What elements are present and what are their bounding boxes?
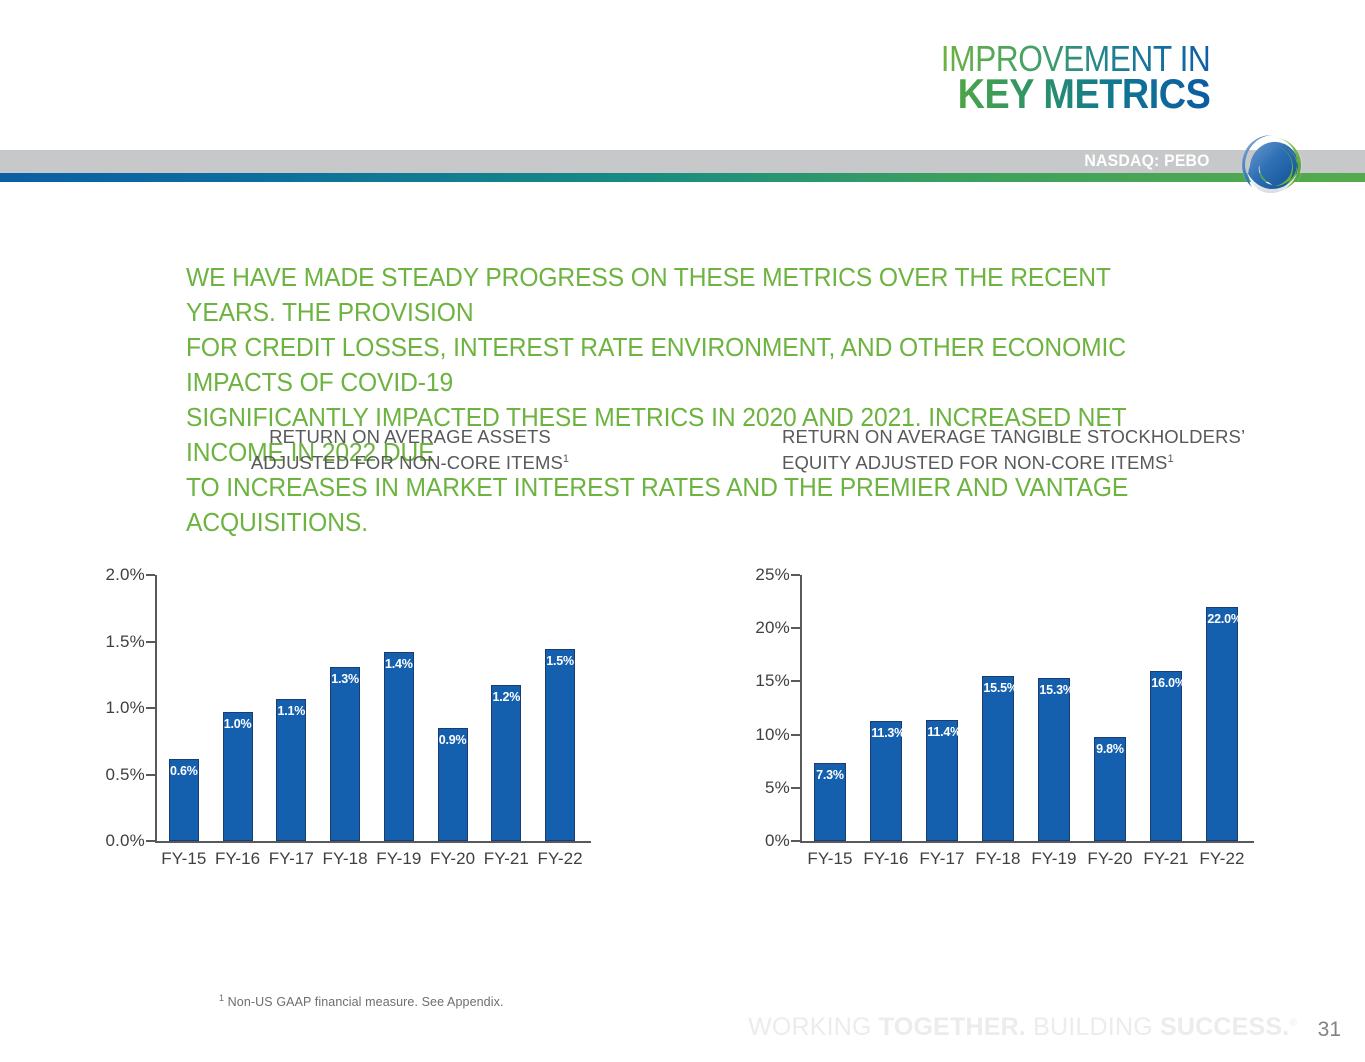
y-tick-label: 1.0% (105, 698, 145, 718)
footer-tagline-part-2: BUILDING (1026, 1013, 1160, 1041)
bar: 7.3% (814, 763, 845, 841)
bar-value-label: 0.6% (170, 764, 198, 778)
x-tick-label: FY-19 (1026, 849, 1082, 869)
x-tick-label: FY-21 (1138, 849, 1194, 869)
y-tick-label: 0.5% (105, 765, 145, 785)
x-tick-label: FY-18 (318, 849, 372, 869)
x-tick-label: FY-18 (970, 849, 1026, 869)
bar-slot: 1.2% (480, 575, 534, 841)
chart-left-title-line-2-text: ADJUSTED FOR NON-CORE ITEMS (251, 452, 563, 473)
bar: 15.5% (982, 676, 1013, 841)
bar-slot: 0.6% (157, 575, 211, 841)
bar-slot: 1.5% (533, 575, 587, 841)
y-tick-mark (791, 680, 800, 682)
bar-slot: 15.5% (970, 575, 1026, 841)
chart-right-title: RETURN ON AVERAGE TANGIBLE STOCKHOLDERS’… (720, 425, 1340, 474)
bar-slot: 11.4% (914, 575, 970, 841)
chart-right-title-footnote-marker: 1 (1167, 453, 1173, 465)
chart-left-y-axis-labels: 2.0%1.5%1.0%0.5%0.0% (60, 565, 145, 831)
page-number: 31 (1318, 1018, 1341, 1042)
bar: 1.4% (384, 652, 414, 841)
x-tick-label: FY-17 (914, 849, 970, 869)
footnote: 1 Non-US GAAP financial measure. See App… (219, 993, 504, 1009)
y-tick-mark (146, 574, 155, 576)
footnote-text: Non-US GAAP financial measure. See Appen… (224, 995, 503, 1009)
bar-slot: 1.1% (265, 575, 319, 841)
bar-slot: 1.4% (372, 575, 426, 841)
bar-value-label: 9.8% (1095, 742, 1124, 756)
y-tick-mark (146, 707, 155, 709)
bar: 15.3% (1038, 678, 1069, 841)
bar: 1.0% (223, 712, 253, 841)
chart-left-x-axis-line (155, 841, 591, 843)
y-tick-mark (146, 641, 155, 643)
page-title: IMPROVEMENT IN KEY METRICS (904, 42, 1210, 114)
chart-return-on-average-assets: RETURN ON AVERAGE ASSETS ADJUSTED FOR NO… (60, 425, 660, 885)
bar-slot: 0.9% (426, 575, 480, 841)
x-tick-label: FY-16 (211, 849, 265, 869)
bar: 11.3% (870, 721, 901, 841)
y-tick-label: 0% (765, 831, 790, 851)
y-tick-label: 25% (755, 565, 790, 585)
bar-slot: 1.3% (318, 575, 372, 841)
y-tick-mark (791, 734, 800, 736)
nasdaq-ticker-label: NASDAQ: PEBO (1085, 151, 1210, 171)
bar-slot: 22.0% (1194, 575, 1250, 841)
bar-slot: 16.0% (1138, 575, 1194, 841)
peoples-bancorp-logo-icon (1238, 132, 1306, 200)
lead-line-2: FOR CREDIT LOSSES, INTEREST RATE ENVIRON… (186, 331, 1170, 401)
y-tick-mark (146, 774, 155, 776)
chart-right-title-line-2-text: EQUITY ADJUSTED FOR NON-CORE ITEMS (782, 452, 1167, 473)
y-tick-mark (791, 787, 800, 789)
bar-value-label: 22.0% (1207, 612, 1236, 626)
chart-left-title-line-1: RETURN ON AVERAGE ASSETS (160, 425, 660, 448)
chart-return-on-average-tangible-stockholders-equity: RETURN ON AVERAGE TANGIBLE STOCKHOLDERS’… (720, 425, 1340, 885)
bar: 0.6% (169, 759, 199, 841)
bar-value-label: 1.2% (492, 690, 520, 704)
bar: 0.9% (438, 728, 468, 841)
bar-value-label: 15.3% (1039, 683, 1068, 697)
y-tick-label: 0.0% (105, 831, 145, 851)
bar-slot: 7.3% (802, 575, 858, 841)
chart-right-y-axis-labels: 25%20%15%10%5%0% (720, 565, 790, 831)
bar-value-label: 1.3% (331, 672, 359, 686)
footer-tagline-bold-2: SUCCESS. (1160, 1013, 1289, 1041)
footer-tagline-part-1: WORKING (748, 1013, 879, 1041)
x-tick-label: FY-21 (480, 849, 534, 869)
chart-right-x-axis-labels: FY-15FY-16FY-17FY-18FY-19FY-20FY-21FY-22 (802, 849, 1250, 869)
footer-tagline: WORKING TOGETHER. BUILDING SUCCESS.® (748, 1013, 1297, 1042)
x-tick-label: FY-15 (802, 849, 858, 869)
chart-right-title-line-2: EQUITY ADJUSTED FOR NON-CORE ITEMS1 (782, 448, 1340, 474)
bar: 9.8% (1094, 737, 1125, 841)
bar-value-label: 1.5% (546, 654, 574, 668)
bar-slot: 9.8% (1082, 575, 1138, 841)
chart-right-x-axis-line (800, 841, 1254, 843)
bar: 1.2% (491, 685, 521, 841)
x-tick-label: FY-22 (533, 849, 587, 869)
y-tick-label: 20% (755, 618, 790, 638)
bar-value-label: 11.4% (927, 725, 956, 739)
bar: 11.4% (926, 720, 957, 841)
x-tick-label: FY-20 (1082, 849, 1138, 869)
bar-slot: 15.3% (1026, 575, 1082, 841)
chart-right-plot-area: 25%20%15%10%5%0% 7.3%11.3%11.4%15.5%15.3… (720, 565, 1340, 875)
bar-value-label: 0.9% (439, 733, 467, 747)
bar: 1.1% (276, 699, 306, 841)
y-tick-label: 10% (755, 725, 790, 745)
chart-left-title-footnote-marker: 1 (563, 453, 569, 465)
chart-left-title: RETURN ON AVERAGE ASSETS ADJUSTED FOR NO… (60, 425, 660, 474)
y-tick-mark (791, 840, 800, 842)
page-title-line-2: KEY METRICS (934, 75, 1210, 114)
x-tick-label: FY-15 (157, 849, 211, 869)
bar: 1.5% (545, 649, 575, 841)
lead-line-1: WE HAVE MADE STEADY PROGRESS ON THESE ME… (186, 261, 1170, 331)
y-tick-label: 2.0% (105, 565, 145, 585)
y-tick-mark (146, 840, 155, 842)
chart-right-title-line-1: RETURN ON AVERAGE TANGIBLE STOCKHOLDERS’ (782, 425, 1340, 448)
bar-value-label: 1.4% (385, 657, 413, 671)
y-tick-label: 15% (755, 671, 790, 691)
header-accent-stripe (0, 173, 1365, 182)
bar-value-label: 1.0% (224, 717, 252, 731)
bar-value-label: 7.3% (815, 768, 844, 782)
chart-left-title-line-2: ADJUSTED FOR NON-CORE ITEMS1 (160, 448, 660, 474)
x-tick-label: FY-20 (426, 849, 480, 869)
x-tick-label: FY-16 (858, 849, 914, 869)
bar-slot: 11.3% (858, 575, 914, 841)
x-tick-label: FY-19 (372, 849, 426, 869)
chart-left-x-axis-labels: FY-15FY-16FY-17FY-18FY-19FY-20FY-21FY-22 (157, 849, 587, 869)
bar: 16.0% (1150, 671, 1181, 841)
y-tick-mark (791, 627, 800, 629)
bar-slot: 1.0% (211, 575, 265, 841)
x-tick-label: FY-22 (1194, 849, 1250, 869)
registered-mark-icon: ® (1289, 1018, 1297, 1029)
y-tick-label: 1.5% (105, 632, 145, 652)
chart-left-bars: 0.6%1.0%1.1%1.3%1.4%0.9%1.2%1.5% (157, 575, 587, 841)
y-tick-mark (791, 574, 800, 576)
y-tick-label: 5% (765, 778, 790, 798)
x-tick-label: FY-17 (265, 849, 319, 869)
bar-value-label: 1.1% (277, 704, 305, 718)
bar-value-label: 15.5% (983, 681, 1012, 695)
bar: 22.0% (1206, 607, 1237, 841)
footer-tagline-bold-1: TOGETHER. (879, 1013, 1026, 1041)
chart-right-bars: 7.3%11.3%11.4%15.5%15.3%9.8%16.0%22.0% (802, 575, 1250, 841)
bar-value-label: 11.3% (871, 726, 900, 740)
chart-left-plot-area: 2.0%1.5%1.0%0.5%0.0% 0.6%1.0%1.1%1.3%1.4… (60, 565, 660, 875)
bar: 1.3% (330, 667, 360, 841)
bar-value-label: 16.0% (1151, 676, 1180, 690)
